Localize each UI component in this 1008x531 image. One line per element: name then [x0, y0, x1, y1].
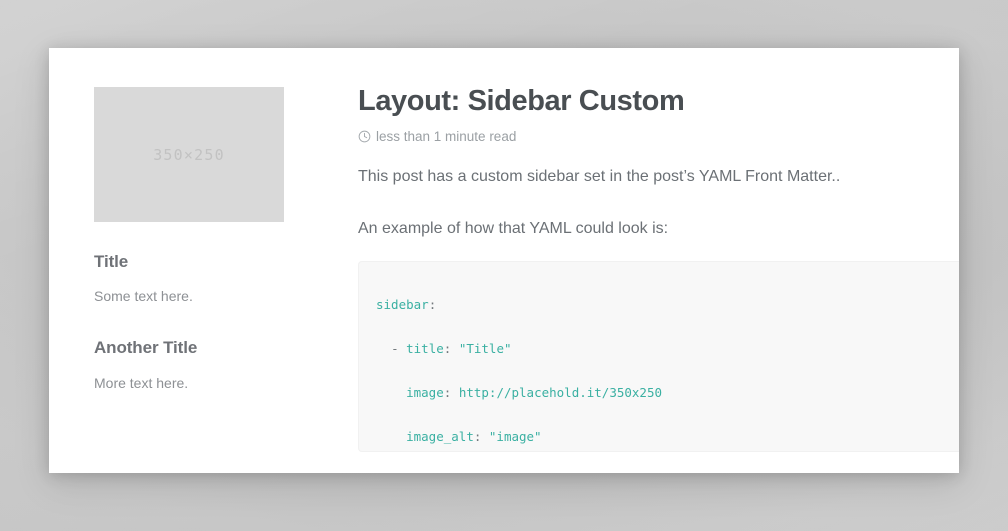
code-block: sidebar: - title: "Title" image: http://… — [358, 261, 959, 452]
yaml-code: sidebar: - title: "Title" image: http://… — [376, 294, 959, 453]
article-meta: less than 1 minute read — [358, 129, 959, 144]
sidebar-placeholder-image: 350×250 — [94, 87, 284, 222]
article-paragraph: An example of how that YAML could look i… — [358, 217, 959, 242]
sidebar-section: Title Some text here. — [94, 252, 284, 307]
sidebar-section: Another Title More text here. — [94, 338, 284, 393]
sidebar-section-text: More text here. — [94, 373, 284, 394]
page-content: 350×250 Title Some text here. Another Ti… — [49, 48, 959, 473]
page-title: Layout: Sidebar Custom — [358, 84, 959, 119]
article-paragraph: This post has a custom sidebar set in th… — [358, 165, 959, 190]
read-time-label: less than 1 minute read — [376, 129, 516, 144]
sidebar-section-title: Title — [94, 252, 284, 272]
sidebar-section-title: Another Title — [94, 338, 284, 358]
page-card: 350×250 Title Some text here. Another Ti… — [49, 48, 959, 473]
clock-icon — [358, 130, 371, 143]
custom-sidebar: 350×250 Title Some text here. Another Ti… — [94, 87, 294, 394]
article: Layout: Sidebar Custom less than 1 minut… — [358, 84, 959, 242]
placeholder-size-label: 350×250 — [153, 146, 225, 164]
code-content: sidebar: - title: "Title" image: http://… — [358, 274, 959, 453]
sidebar-section-text: Some text here. — [94, 286, 284, 307]
